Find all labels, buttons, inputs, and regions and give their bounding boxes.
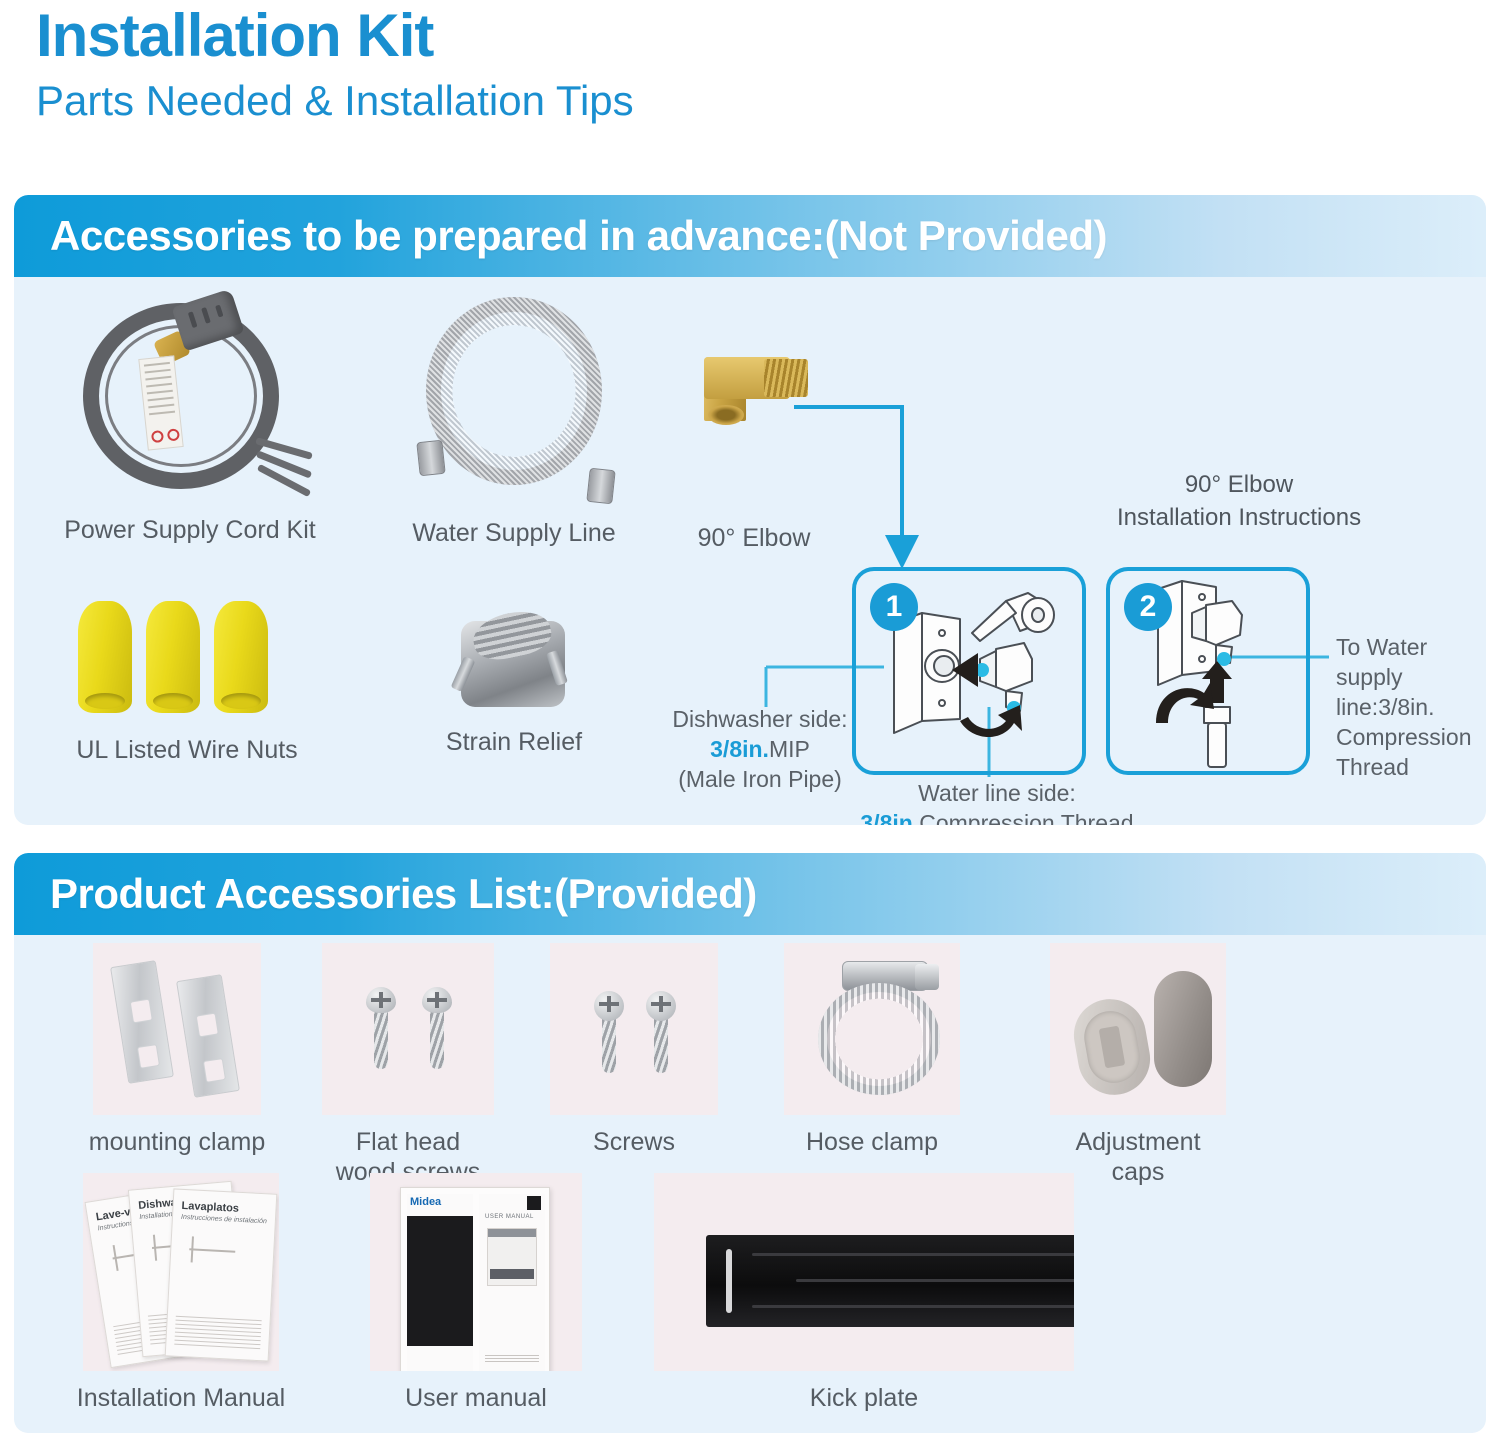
section-header-provided: Product Accessories List:(Provided) xyxy=(14,853,1486,935)
part-power-supply-cord-kit: Power Supply Cord Kit xyxy=(50,295,330,545)
flat-head-wood-screws-icon xyxy=(322,943,494,1115)
adjustment-caps-icon xyxy=(1050,943,1226,1115)
accessory-label: Installation Manual xyxy=(66,1383,296,1413)
callout-highlight: 3/8in. xyxy=(860,810,919,825)
accessory-label: Adjustment caps xyxy=(1050,1127,1226,1187)
qr-code-icon xyxy=(527,1196,541,1210)
accessory-kick-plate: Kick plate xyxy=(654,1173,1074,1413)
part-label: Power Supply Cord Kit xyxy=(50,515,330,545)
prepare-body: Power Supply Cord Kit Water Supply Line … xyxy=(14,277,1486,825)
part-ul-listed-wire-nuts: UL Listed Wire Nuts xyxy=(62,595,312,765)
callout-highlight: 3/8in. xyxy=(710,736,769,762)
wire-nuts-icon xyxy=(72,595,302,725)
callout-line-3: (Male Iron Pipe) xyxy=(660,765,860,795)
section-header-prepare: Accessories to be prepared in advance:(N… xyxy=(14,195,1486,277)
installation-manual-icon: Lave-vaisselle Instructions d'installati… xyxy=(83,1173,279,1371)
mounting-clamp-icon xyxy=(93,943,261,1115)
section-accessories-to-prepare: Accessories to be prepared in advance:(N… xyxy=(14,195,1486,825)
brand-logo: Midea xyxy=(410,1196,441,1208)
accessory-user-manual: Midea USER MANUAL User manual xyxy=(370,1173,582,1413)
accessory-hose-clamp: Hose clamp xyxy=(784,943,960,1157)
accessory-label: User manual xyxy=(370,1383,582,1413)
accessory-screws: Screws xyxy=(548,943,720,1157)
callout-line-1: Dishwasher side: xyxy=(660,705,860,735)
part-water-supply-line: Water Supply Line xyxy=(384,293,644,548)
callout-line-1: Water line side: xyxy=(852,779,1142,809)
accessory-installation-manual: Lave-vaisselle Instructions d'installati… xyxy=(66,1173,296,1413)
accessory-flat-head-wood-screws: Flat head wood screws xyxy=(310,943,506,1187)
power-cord-icon xyxy=(65,295,315,505)
elbow-instructions-heading: 90° Elbow Installation Instructions xyxy=(1069,469,1409,534)
leaflet: Lavaplatos Instrucciones de instalación xyxy=(165,1189,278,1362)
part-label: Strain Relief xyxy=(404,727,624,757)
step-box-2: 2 xyxy=(1106,567,1310,775)
part-90-degree-elbow: 90° Elbow xyxy=(669,353,839,553)
callout-to-water-supply-line: To Water supply line:3/8in. Compression … xyxy=(1336,633,1486,782)
provided-body: mounting clamp Flat head wood screws xyxy=(14,935,1486,1433)
leaflet-subtitle: Instrucciones de instalación xyxy=(181,1214,267,1225)
brass-elbow-icon xyxy=(694,353,814,453)
user-manual-icon: Midea USER MANUAL xyxy=(370,1173,582,1371)
accessory-mounting-clamp: mounting clamp xyxy=(66,943,288,1157)
part-label: 90° Elbow xyxy=(669,523,839,553)
step-box-1: 1 xyxy=(852,567,1086,775)
hose-clamp-icon xyxy=(784,943,960,1115)
part-strain-relief: Strain Relief xyxy=(404,607,624,757)
accessory-label: mounting clamp xyxy=(66,1127,288,1157)
section-header-prepare-label: Accessories to be prepared in advance:(N… xyxy=(50,212,1107,260)
leaflet-title: Lavaplatos xyxy=(181,1200,239,1215)
strain-relief-icon xyxy=(439,607,589,727)
accessory-label: Screws xyxy=(548,1127,720,1157)
elbow-instructions-heading-line1: 90° Elbow xyxy=(1185,471,1293,498)
page-subtitle: Parts Needed & Installation Tips xyxy=(36,73,1500,130)
braided-hose-icon xyxy=(402,293,627,508)
accessory-label-line1: Flat head xyxy=(310,1127,506,1157)
callout-line-2: Compression Thread xyxy=(919,810,1133,825)
page-title-block: Installation Kit Parts Needed & Installa… xyxy=(0,0,1500,129)
section-product-accessories-list: Product Accessories List:(Provided) moun… xyxy=(14,853,1486,1433)
callout-line-2: MIP xyxy=(769,736,810,762)
accessory-label: Hose clamp xyxy=(784,1127,960,1157)
page-title: Installation Kit xyxy=(36,4,1500,69)
accessory-adjustment-caps: Adjustment caps xyxy=(1050,943,1226,1187)
user-manual-label: USER MANUAL xyxy=(485,1214,534,1220)
kick-plate-icon xyxy=(654,1173,1074,1371)
screws-icon xyxy=(550,943,718,1115)
callout-water-line-side: Water line side: 3/8in.Compression Threa… xyxy=(852,779,1142,825)
part-label: UL Listed Wire Nuts xyxy=(62,735,312,765)
section-header-provided-label: Product Accessories List:(Provided) xyxy=(50,870,757,918)
accessory-label: Kick plate xyxy=(654,1383,1074,1413)
callout-dishwasher-side: Dishwasher side: 3/8in.MIP (Male Iron Pi… xyxy=(660,705,860,795)
elbow-instructions-heading-line2: Installation Instructions xyxy=(1117,504,1361,531)
part-label: Water Supply Line xyxy=(384,518,644,548)
